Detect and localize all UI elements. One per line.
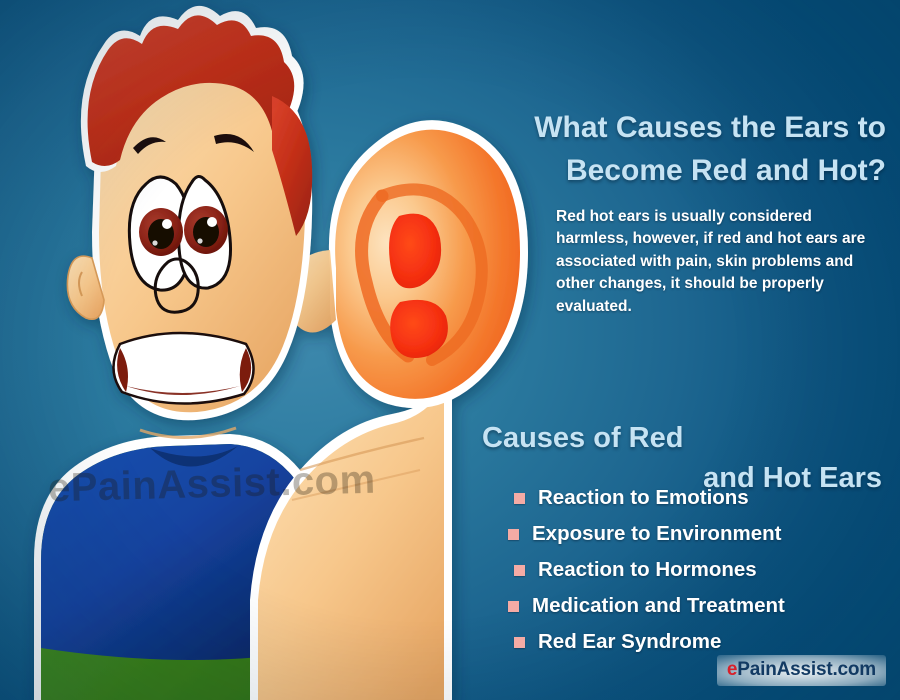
open-mouth xyxy=(113,333,253,404)
page-title-line-2: Become Red and Hot? xyxy=(386,149,886,192)
page-title: What Causes the Ears to Become Red and H… xyxy=(386,106,886,192)
bullet-square-icon xyxy=(508,601,519,612)
intro-paragraph: Red hot ears is usually considered harml… xyxy=(556,206,888,319)
eyes xyxy=(129,176,230,290)
list-item: Reaction to Hormones xyxy=(514,552,890,588)
site-logo[interactable]: ePainAssist.com xyxy=(717,655,886,686)
causes-list: Reaction to Emotions Exposure to Environ… xyxy=(508,480,890,660)
bullet-square-icon xyxy=(514,493,525,504)
list-item-label: Red Ear Syndrome xyxy=(538,630,721,654)
logo-accent-letter: e xyxy=(727,659,737,680)
list-item: Exposure to Environment xyxy=(508,516,890,552)
list-item: Reaction to Emotions xyxy=(514,480,890,516)
infographic-canvas: ePainAssist.com What Causes the Ears to … xyxy=(0,0,900,700)
logo-text: PainAssist.com xyxy=(737,659,876,680)
bullet-square-icon xyxy=(514,565,525,576)
list-item-label: Medication and Treatment xyxy=(532,594,785,618)
list-item-label: Reaction to Hormones xyxy=(538,558,757,582)
section-heading-line-1: Causes of Red xyxy=(420,418,882,458)
illustration-character xyxy=(0,0,560,700)
bullet-square-icon xyxy=(514,637,525,648)
list-item-label: Reaction to Emotions xyxy=(538,486,749,510)
head xyxy=(67,6,312,438)
page-title-line-1: What Causes the Ears to xyxy=(386,106,886,149)
list-item-label: Exposure to Environment xyxy=(532,522,781,546)
bullet-square-icon xyxy=(508,529,519,540)
list-item: Medication and Treatment xyxy=(508,588,890,624)
